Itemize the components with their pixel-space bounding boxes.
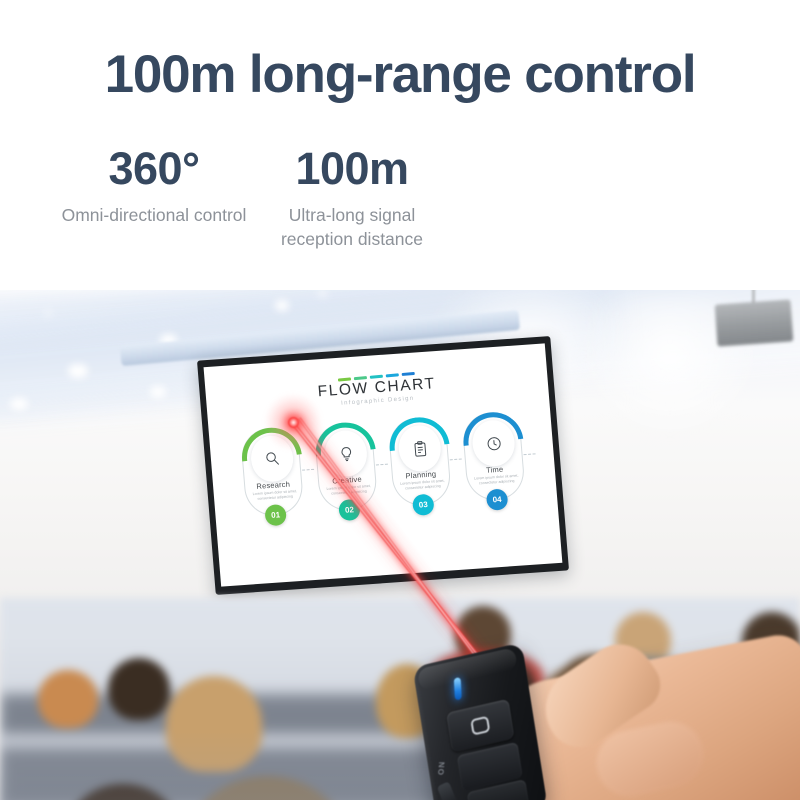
product-feature-image: 100m long-range control 360° Omni-direct… bbox=[0, 0, 800, 800]
led-indicator-icon bbox=[454, 677, 462, 700]
stat-value: 100m bbox=[253, 140, 451, 198]
presenter-hand-layer: ON bbox=[0, 282, 800, 800]
stat-description: Ultra-long signal reception distance bbox=[253, 203, 451, 251]
page-title: 100m long-range control bbox=[0, 44, 800, 105]
presenter-remote[interactable]: ON bbox=[412, 642, 547, 800]
square-button-icon bbox=[470, 716, 490, 736]
power-switch[interactable] bbox=[437, 781, 459, 800]
power-switch-label: ON bbox=[437, 761, 447, 775]
stat-list: 360° Omni-directional control 100m Ultra… bbox=[55, 140, 475, 251]
stat-block-100m: 100m Ultra-long signal reception distanc… bbox=[253, 140, 451, 251]
remote-highlight bbox=[417, 647, 518, 691]
stat-description: Omni-directional control bbox=[55, 203, 253, 227]
conference-room-photo: FLOW CHART Infographic Design bbox=[0, 282, 800, 800]
stat-value: 360° bbox=[55, 140, 253, 198]
marketing-header: 100m long-range control 360° Omni-direct… bbox=[0, 0, 800, 290]
stat-block-360: 360° Omni-directional control bbox=[55, 140, 253, 251]
